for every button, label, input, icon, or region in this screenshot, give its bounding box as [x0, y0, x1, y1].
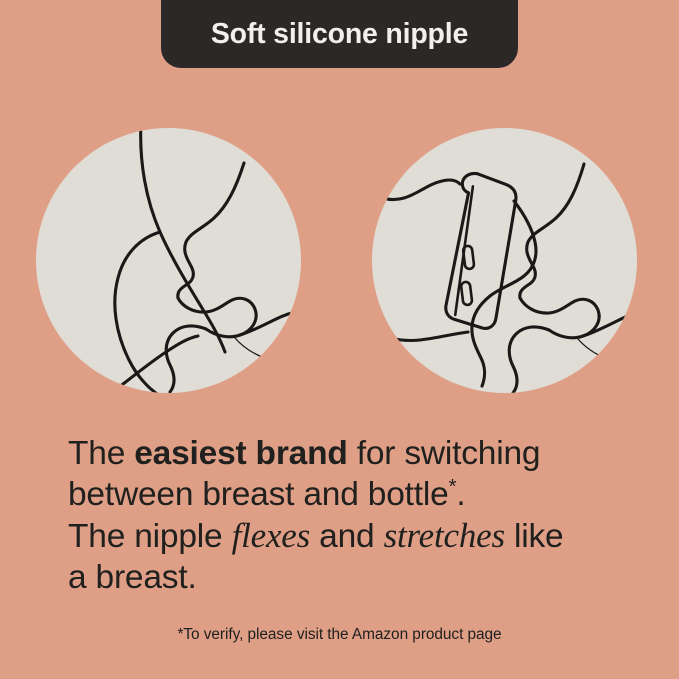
tagline-line3-a: The nipple: [68, 518, 232, 555]
tagline-line2: between breast and bottle: [68, 476, 449, 513]
bottlefeeding-line-drawing: [372, 128, 637, 393]
tagline-line3-b: and: [310, 518, 384, 555]
tagline-line2-end: .: [456, 476, 465, 513]
tagline-line1-a: The: [68, 435, 134, 472]
tagline-line1-bold: easiest brand: [134, 435, 347, 472]
tagline-line3-c: like: [505, 518, 564, 555]
product-feature-card: Soft silicone nipple: [0, 0, 679, 679]
breastfeeding-line-drawing: [36, 128, 301, 393]
tagline-italic-stretches: stretches: [384, 516, 505, 555]
illustration-breastfeeding: [36, 128, 301, 393]
headline-text: Soft silicone nipple: [211, 20, 468, 49]
tagline-line-3: The nipple flexes and stretches like: [68, 515, 628, 557]
tagline-line1-b: for switching: [348, 435, 541, 472]
illustration-bottlefeeding: [372, 128, 637, 393]
headline-banner: Soft silicone nipple: [161, 0, 518, 68]
tagline-line4: a breast.: [68, 559, 197, 596]
tagline-line-4: a breast.: [68, 557, 628, 598]
tagline-italic-flexes: flexes: [232, 516, 310, 555]
footnote-text: *To verify, please visit the Amazon prod…: [0, 626, 679, 644]
illustration-disc: [36, 128, 301, 393]
tagline-line-1: The easiest brand for switching: [68, 433, 628, 474]
tagline-line-2: between breast and bottle*.: [68, 474, 628, 515]
tagline: The easiest brand for switching between …: [68, 433, 628, 598]
